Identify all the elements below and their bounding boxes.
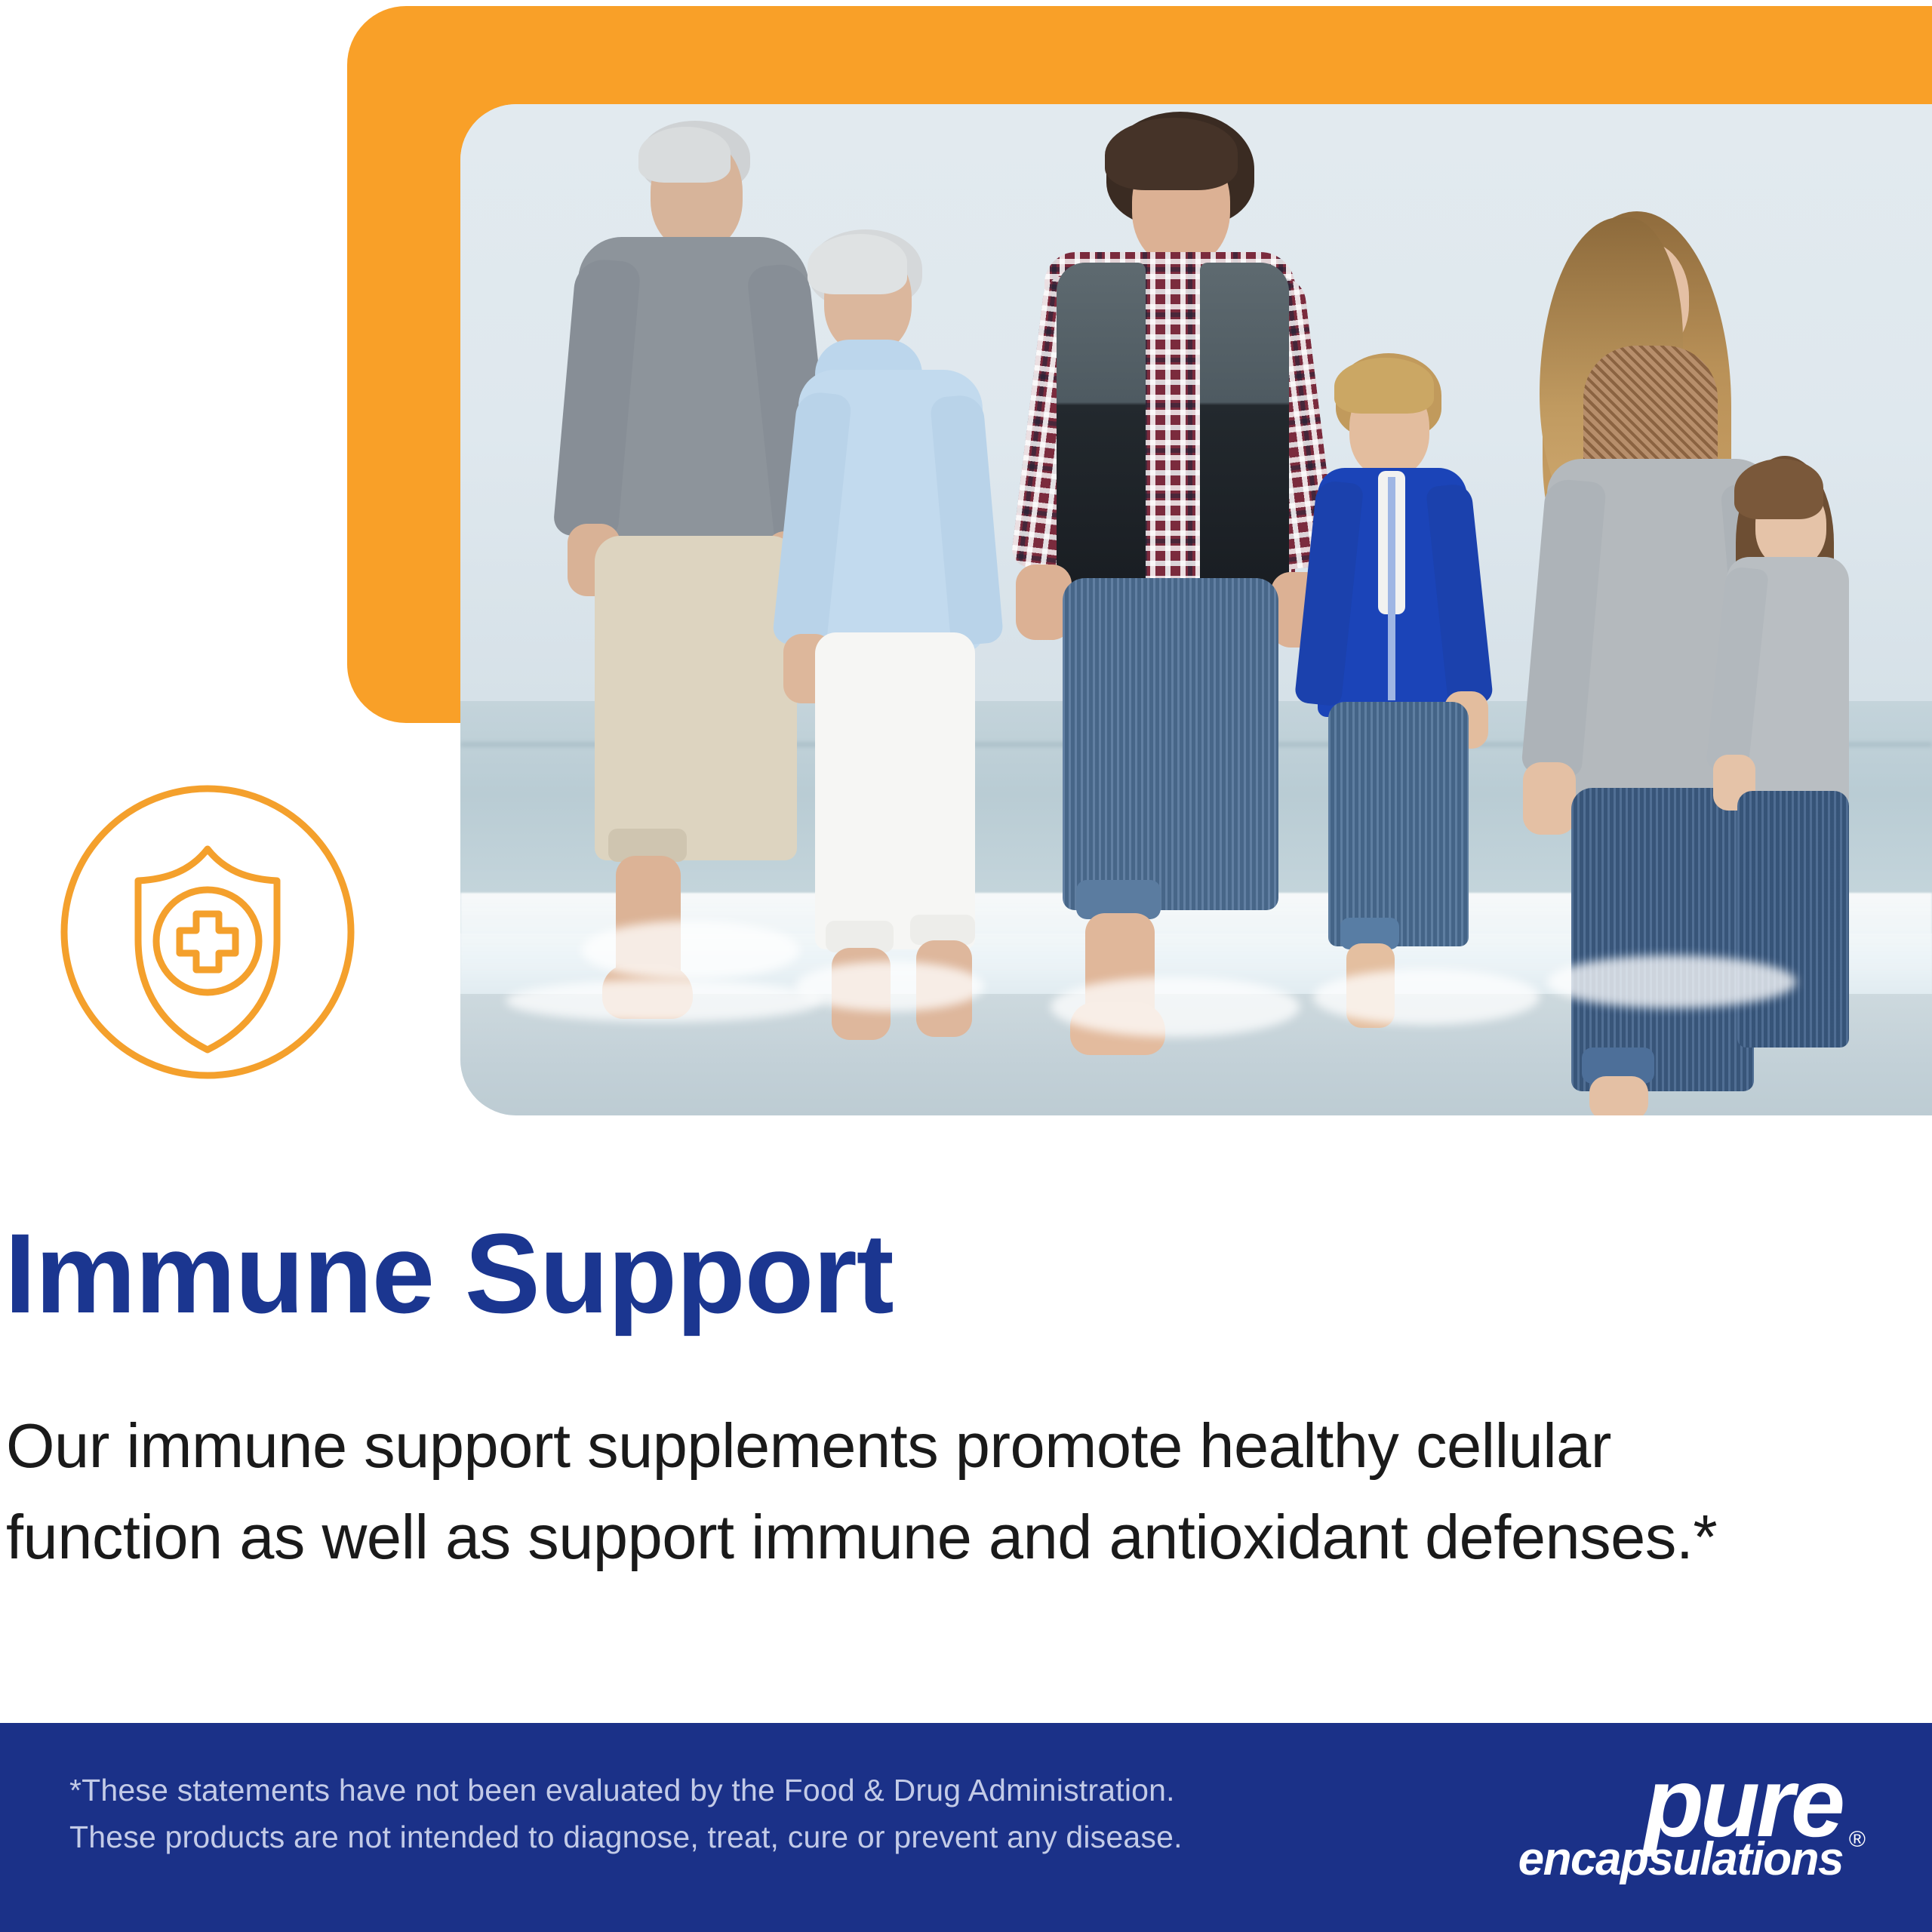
water-splash	[1313, 969, 1540, 1025]
hero-section	[0, 0, 1932, 1124]
water-splash	[581, 921, 800, 980]
water-splash	[1051, 977, 1300, 1037]
family-beach-photo	[460, 104, 1932, 1115]
logo-subword: encapsulations	[1518, 1836, 1843, 1883]
disclaimer-line-1: *These statements have not been evaluate…	[69, 1767, 1292, 1814]
water-splash	[1547, 955, 1796, 1008]
footer-bar: *These statements have not been evaluate…	[0, 1723, 1932, 1932]
shield-health-icon	[57, 781, 358, 1083]
water-splash	[795, 961, 984, 1011]
registered-trademark-icon: ®	[1849, 1827, 1866, 1853]
disclaimer-line-2: These products are not intended to diagn…	[69, 1814, 1292, 1860]
water-splash	[506, 980, 823, 1022]
pure-encapsulations-logo: pure encapsulations ®	[1508, 1758, 1870, 1894]
page-description: Our immune support supplements promote h…	[6, 1400, 1734, 1583]
disclaimer-text: *These statements have not been evaluate…	[69, 1767, 1292, 1861]
page-title: Immune Support	[5, 1217, 894, 1330]
